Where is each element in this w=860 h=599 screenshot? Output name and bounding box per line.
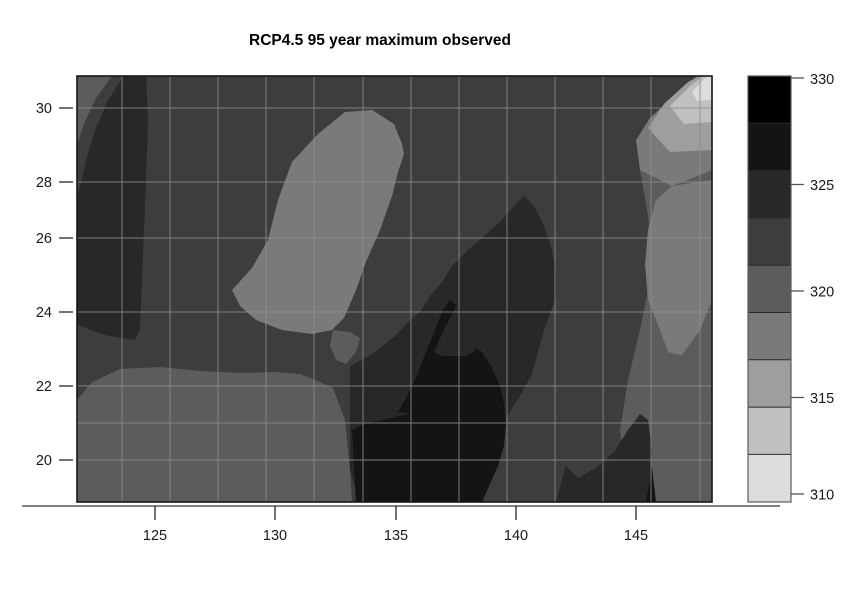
legend-band-332[interactable]: [748, 76, 791, 123]
legend-band-323[interactable]: [748, 218, 791, 265]
legend-tick-label-320: 320: [810, 285, 834, 301]
legend-band-314[interactable]: [748, 407, 791, 454]
x-tick-label-140: 140: [504, 528, 528, 544]
x-tick-label-125: 125: [143, 528, 167, 544]
contour-fill-layer: [77, 76, 712, 502]
x-tick-label-135: 135: [384, 528, 408, 544]
legend-band-329[interactable]: [748, 123, 791, 170]
y-tick-label-22: 22: [36, 379, 52, 395]
legend-band-319[interactable]: [748, 313, 791, 360]
x-tick-label-130: 130: [263, 528, 287, 544]
page-title: RCP4.5 95 year maximum observed: [249, 32, 511, 49]
legend-tick-label-330: 330: [810, 72, 834, 88]
legend-tick-label-310: 310: [810, 488, 834, 504]
legend-tick-label-315: 315: [810, 391, 834, 407]
y-tick-label-24: 24: [36, 305, 52, 321]
legend-band-326[interactable]: [748, 171, 791, 218]
y-tick-label-30: 30: [36, 101, 52, 117]
plot-panel: [77, 76, 712, 502]
legend-band-321[interactable]: [748, 265, 791, 312]
contour-plot-figure: RCP4.5 95 year maximum observed: [0, 0, 860, 599]
y-tick-label-20: 20: [36, 453, 52, 469]
contour-band-321-southwest: [77, 367, 352, 502]
x-tick-label-145: 145: [624, 528, 648, 544]
legend-band-311[interactable]: [748, 454, 791, 502]
y-tick-label-28: 28: [36, 175, 52, 191]
legend-band-316[interactable]: [748, 360, 791, 407]
y-tick-label-26: 26: [36, 231, 52, 247]
legend-tick-label-325: 325: [810, 178, 834, 194]
